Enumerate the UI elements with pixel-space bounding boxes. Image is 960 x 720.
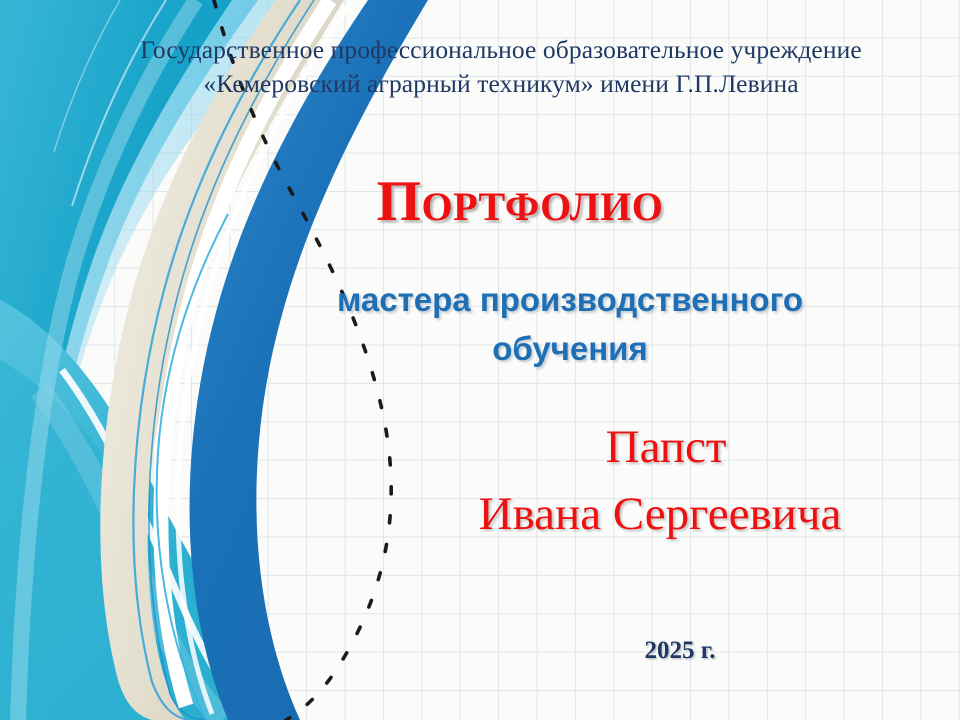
subtitle-line-1: мастера производственного	[337, 281, 803, 318]
presentation-slide: Государственное профессиональное образов…	[0, 0, 960, 720]
slide-text-layer: Государственное профессиональное образов…	[0, 0, 960, 720]
organization-header: Государственное профессиональное образов…	[96, 33, 906, 101]
page-title: Портфолио	[260, 172, 780, 232]
person-surname: Папст	[392, 414, 940, 481]
subtitle-line-2: обучения	[492, 330, 647, 367]
person-name: Папст Ивана Сергеевича	[380, 414, 940, 547]
slide-subtitle: мастера производственного обучения	[270, 276, 870, 374]
person-given-name: Ивана Сергеевича	[380, 481, 940, 548]
organization-line-1: Государственное профессиональное образов…	[140, 35, 861, 64]
year-label: 2025 г.	[545, 637, 815, 665]
organization-line-2: «Кемеровский аграрный техникум» имени Г.…	[96, 67, 906, 101]
